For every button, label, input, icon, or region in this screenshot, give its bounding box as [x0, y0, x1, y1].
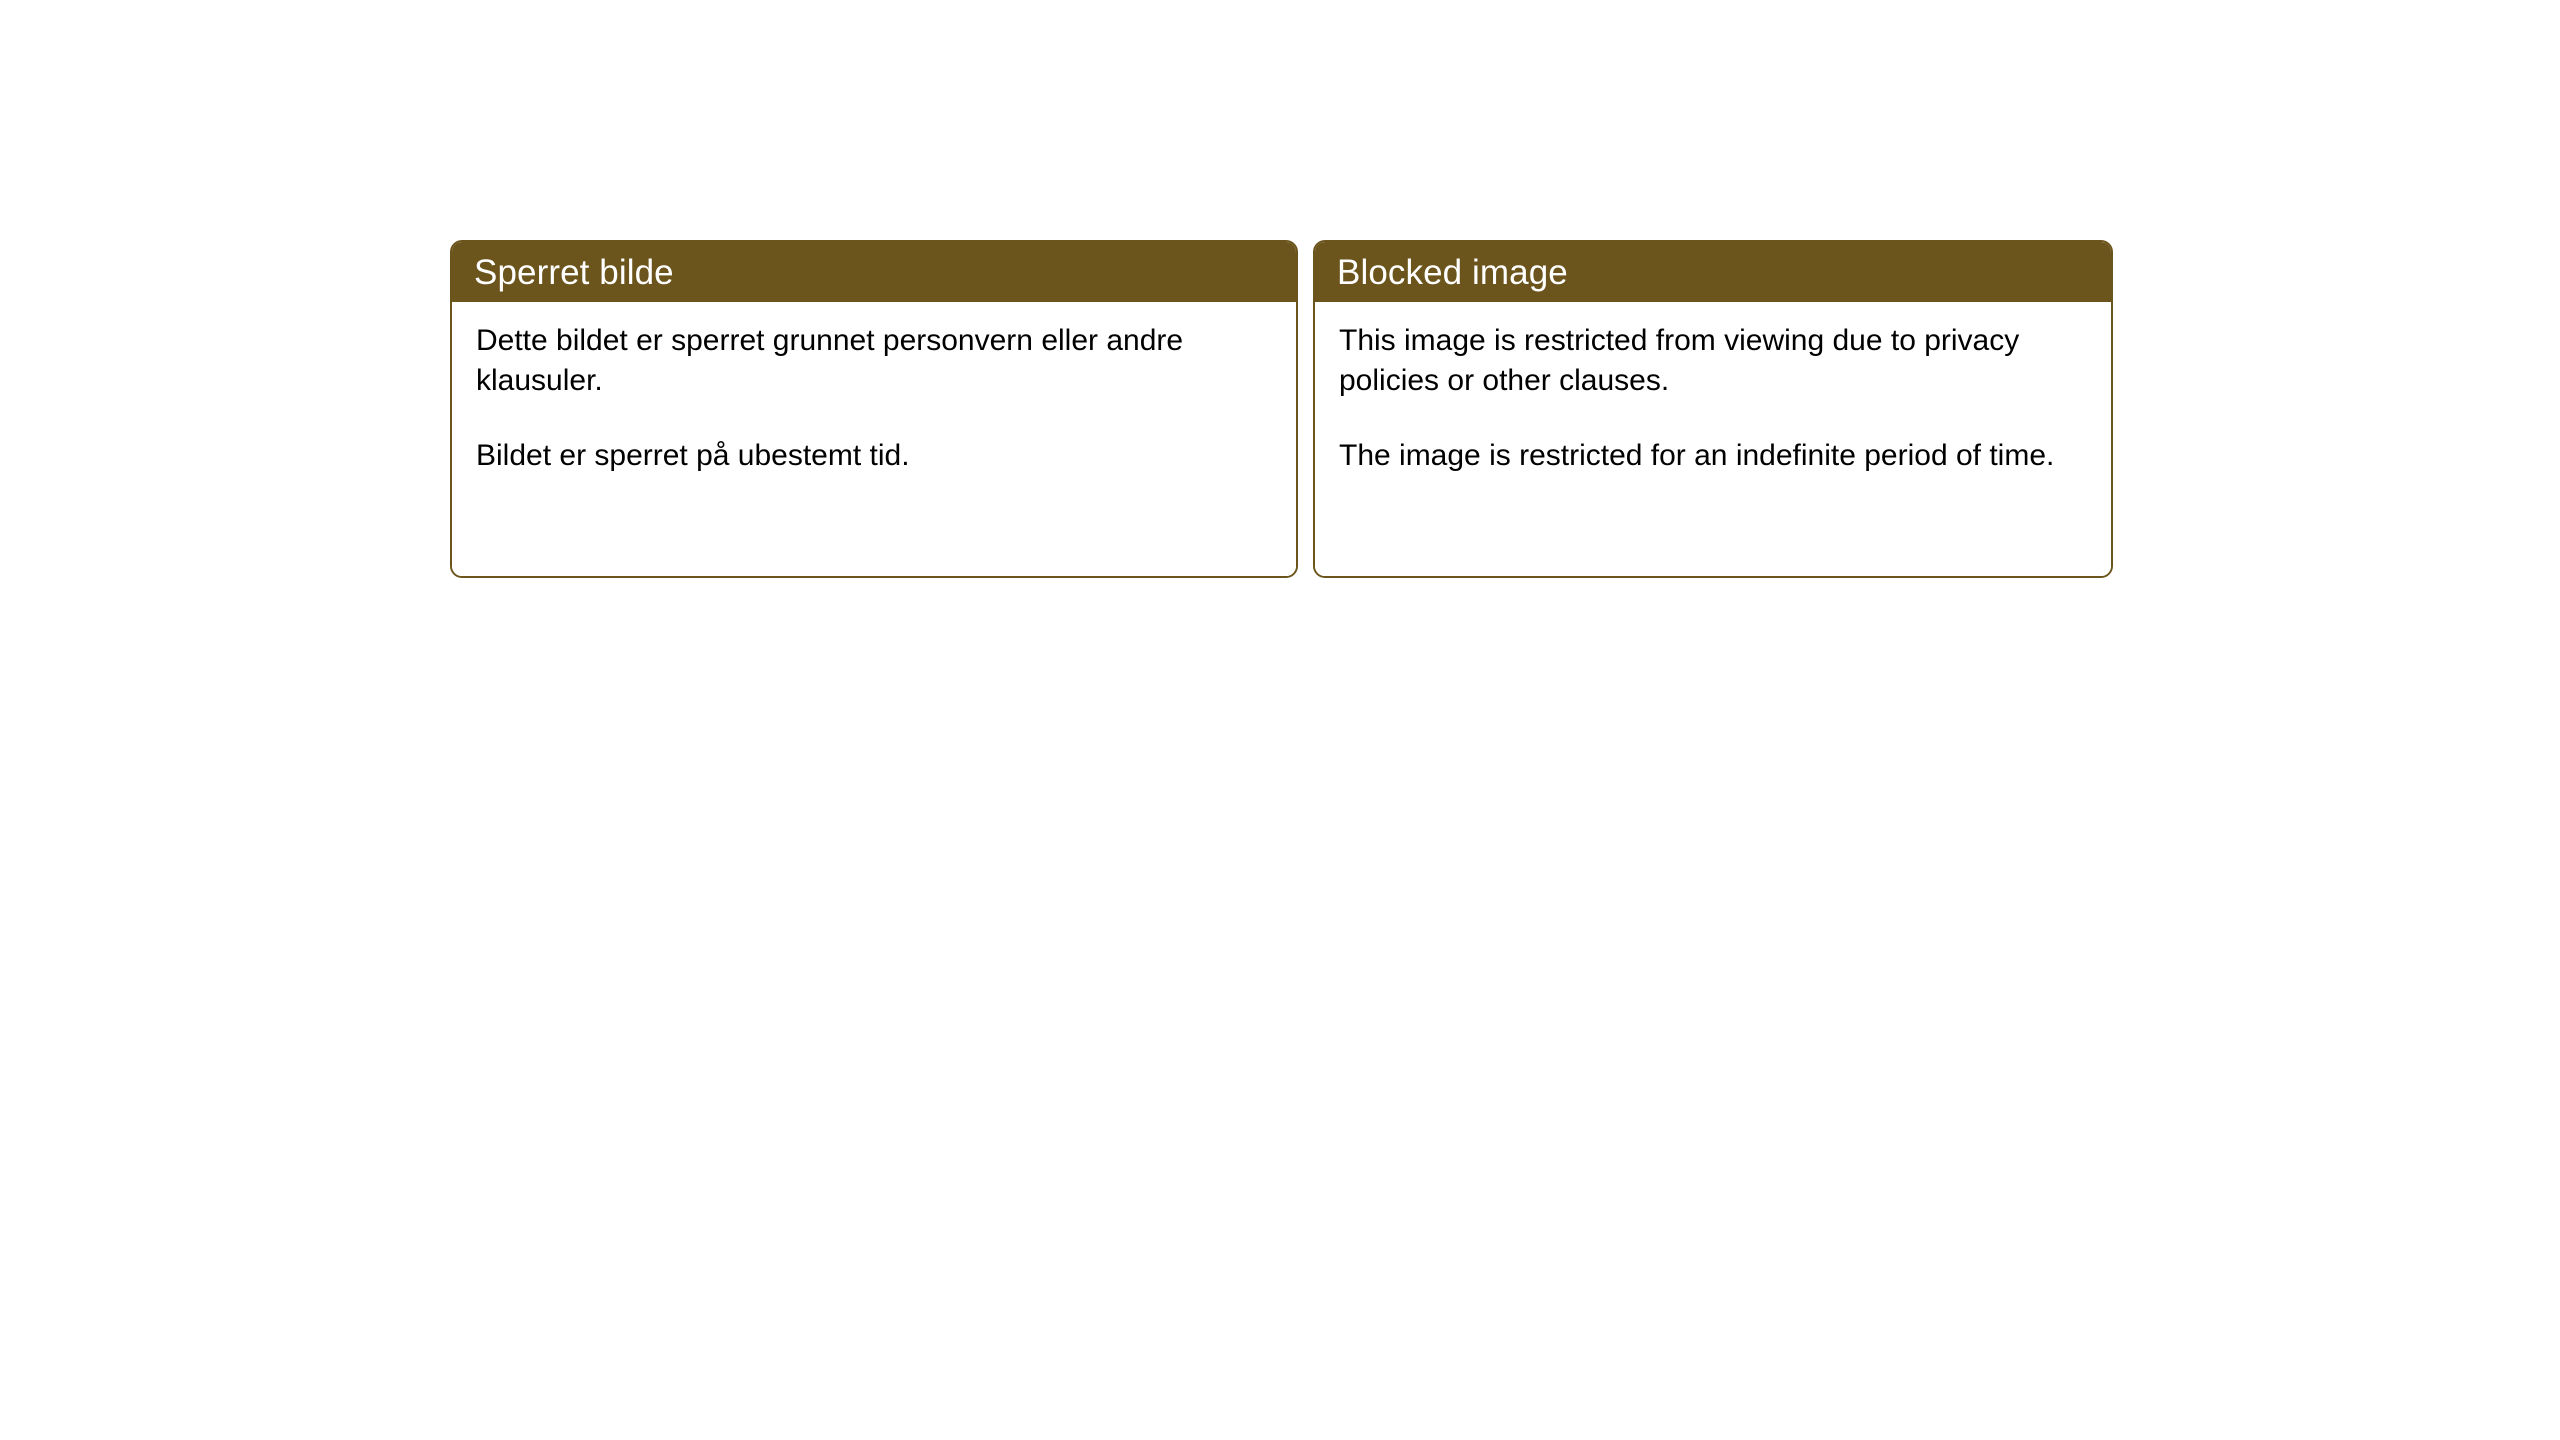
card-header-norwegian: Sperret bilde	[452, 242, 1296, 302]
card-title-english: Blocked image	[1337, 255, 1568, 290]
card-body-norwegian: Dette bildet er sperret grunnet personve…	[452, 302, 1296, 576]
card-header-english: Blocked image	[1315, 242, 2111, 302]
card-paragraph-duration-norwegian: Bildet er sperret på ubestemt tid.	[476, 436, 1272, 476]
blocked-image-notices: Sperret bilde Dette bildet er sperret gr…	[450, 240, 2113, 578]
card-body-english: This image is restricted from viewing du…	[1315, 302, 2111, 576]
card-paragraph-reason-english: This image is restricted from viewing du…	[1339, 321, 2087, 400]
blocked-image-card-english: Blocked image This image is restricted f…	[1313, 240, 2113, 578]
card-title-norwegian: Sperret bilde	[474, 255, 674, 290]
blocked-image-card-norwegian: Sperret bilde Dette bildet er sperret gr…	[450, 240, 1298, 578]
card-paragraph-duration-english: The image is restricted for an indefinit…	[1339, 436, 2087, 476]
card-paragraph-reason-norwegian: Dette bildet er sperret grunnet personve…	[476, 321, 1272, 400]
